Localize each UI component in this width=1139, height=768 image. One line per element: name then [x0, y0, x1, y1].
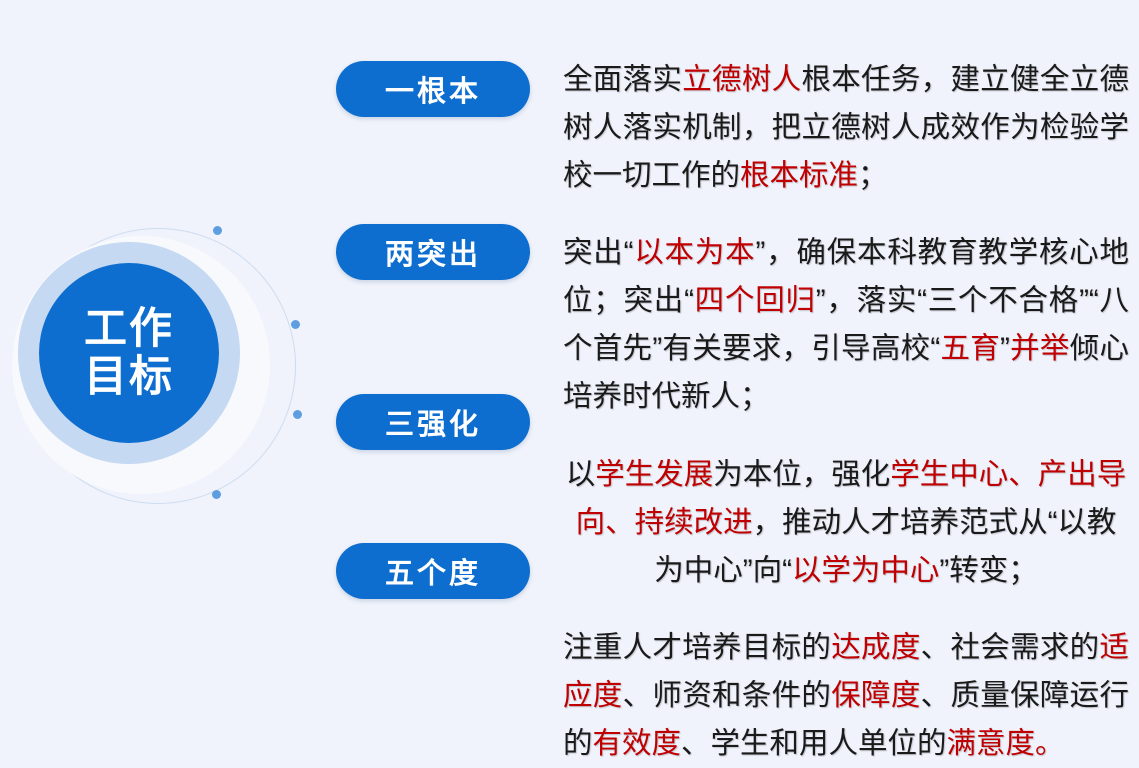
text-run: 全面落实 [563, 63, 682, 96]
text-run: 注重人才培养目标的 [563, 631, 831, 664]
emblem-dot-3-icon [293, 410, 302, 419]
emblem-title-line-2: 目标 [84, 353, 174, 401]
highlighted-run: 立德树人 [682, 63, 801, 96]
text-run: 突出“ [563, 236, 633, 269]
paragraph-five-degrees: 注重人才培养目标的达成度、社会需求的适应度、师资和条件的保障度、质量保障运行的有… [563, 624, 1129, 768]
text-run: ； [858, 159, 888, 192]
text-run: 、学生和用人单位的 [681, 727, 947, 760]
text-run: 以 [566, 458, 596, 491]
paragraph-two-highlights: 突出“以本为本”，确保本科教育教学核心地位；突出“四个回归”，落实“三个不合格”… [563, 229, 1129, 421]
highlighted-run: 满意度。 [947, 727, 1065, 760]
description-column: 全面落实立德树人根本任务，建立健全立德树人落实机制，把立德树人成效作为检验学校一… [563, 26, 1129, 768]
emblem-dot-2-icon [291, 320, 300, 329]
text-run: 、师资和条件的 [623, 679, 832, 712]
text-run: ”转变； [939, 554, 1037, 587]
text-run: 、社会需求的 [921, 631, 1100, 664]
highlighted-run: 达成度 [831, 631, 920, 664]
highlighted-run: 保障度 [831, 679, 920, 712]
emblem-title-line-1: 工作 [84, 305, 174, 353]
paragraph-one-fundamental: 全面落实立德树人根本任务，建立健全立德树人落实机制，把立德树人成效作为检验学校一… [563, 56, 1129, 200]
pill-label-three-strengthenings[interactable]: 三强化 [336, 394, 530, 450]
highlighted-run: 并举 [1010, 332, 1070, 365]
highlighted-run: 四个回归 [694, 284, 816, 317]
highlighted-run: 学生发展 [595, 458, 713, 491]
highlighted-run: 以学为中心 [792, 554, 940, 587]
highlighted-run: 有效度 [593, 727, 682, 760]
emblem-core-circle: 工作 目标 [39, 263, 219, 443]
pill-label-five-degrees[interactable]: 五个度 [336, 543, 530, 599]
highlighted-run: 以本为本 [633, 236, 755, 269]
emblem-dot-1-icon [213, 226, 222, 235]
work-goal-emblem: 工作 目标 [10, 218, 310, 518]
text-run: 为本位，强化 [713, 458, 890, 491]
paragraph-three-strengthenings: 以学生发展为本位，强化学生中心、产出导向、持续改进，推动人才培养范式从“以教为中… [563, 451, 1129, 595]
highlighted-run: 五育 [940, 332, 1000, 365]
highlighted-run: 根本标准 [740, 159, 858, 192]
pill-label-two-highlights[interactable]: 两突出 [336, 224, 530, 280]
slide-canvas: 工作 目标 一根本 两突出 三强化 五个度 全面落实立德树人根本任务，建立健全立… [0, 0, 1139, 650]
text-run: ” [1000, 332, 1010, 365]
emblem-dot-4-icon [212, 490, 221, 499]
pill-label-one-fundamental[interactable]: 一根本 [336, 61, 530, 117]
